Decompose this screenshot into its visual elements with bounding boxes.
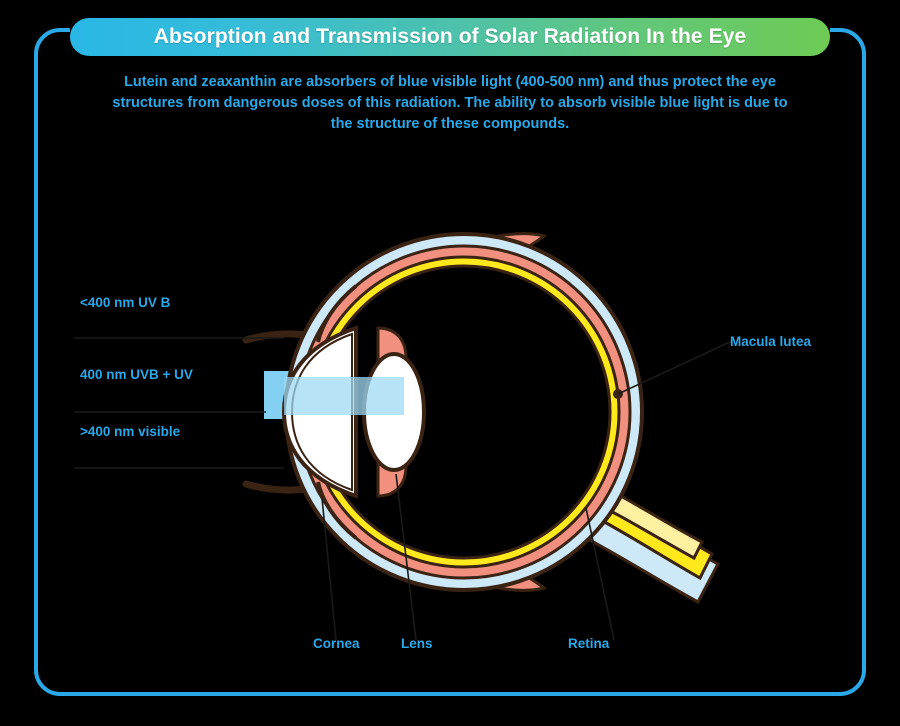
label-retina: Retina bbox=[568, 636, 609, 651]
light-through-optics bbox=[284, 377, 404, 415]
label-uvb: <400 nm UV B bbox=[80, 295, 170, 310]
label-uva: 400 nm UVB + UV bbox=[80, 367, 193, 382]
beam-through-cornea bbox=[284, 377, 404, 415]
label-macula-lutea: Macula lutea bbox=[730, 334, 811, 349]
label-visible: >400 nm visible bbox=[80, 424, 180, 439]
label-cornea: Cornea bbox=[313, 636, 360, 651]
infographic-canvas: Absorption and Transmission of Solar Rad… bbox=[0, 0, 900, 726]
eye-diagram bbox=[34, 28, 866, 696]
label-lens: Lens bbox=[401, 636, 433, 651]
